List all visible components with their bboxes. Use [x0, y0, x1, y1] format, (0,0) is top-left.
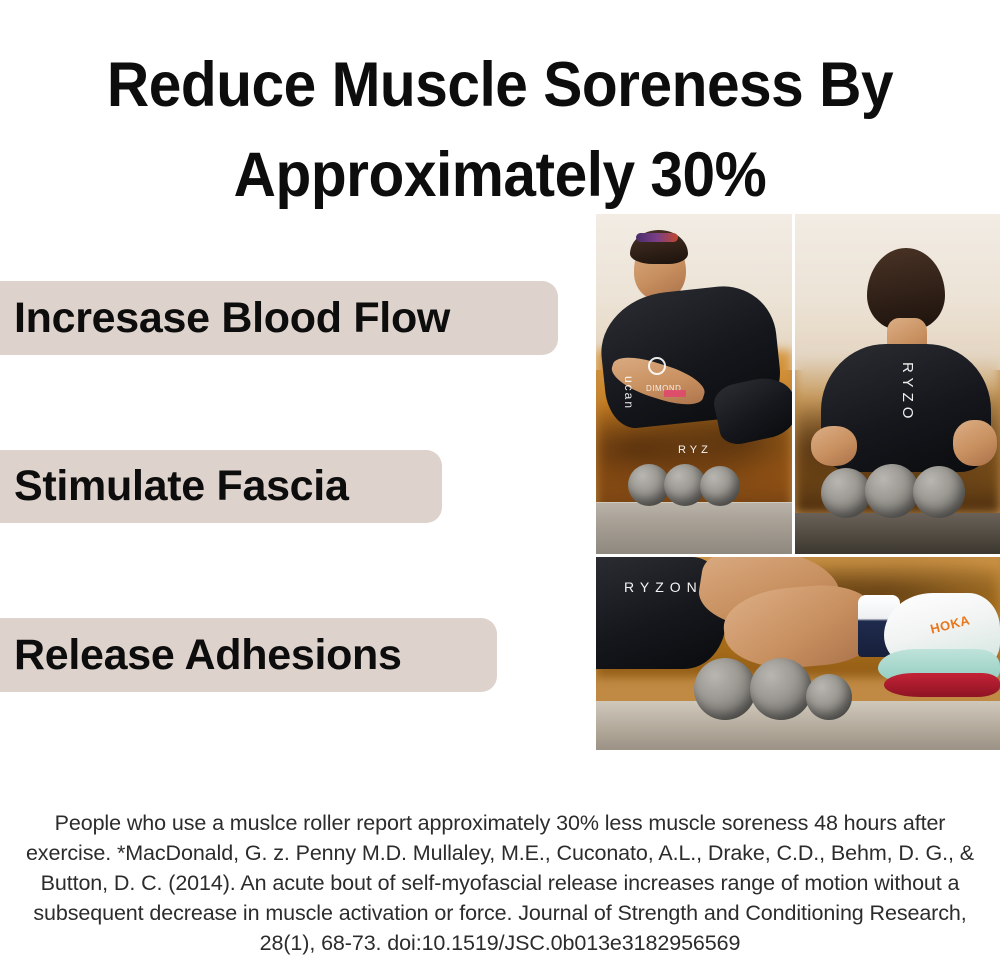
- page-title: Reduce Muscle Soreness By Approximately …: [35, 40, 965, 220]
- sponsor-badge: [664, 390, 686, 397]
- athlete-arm-right: [953, 420, 997, 466]
- massage-roller: [821, 464, 959, 518]
- photo-ground: [596, 503, 792, 554]
- roller-ball: [806, 674, 852, 720]
- feature-label: Stimulate Fascia: [0, 465, 349, 508]
- roller-ball: [750, 658, 812, 720]
- roller-ball: [865, 464, 919, 518]
- photo-ground: [795, 513, 1000, 554]
- photo-collage: ucan RYZ DIMOND RYZO: [596, 214, 1000, 750]
- citation-footnote: People who use a muslce roller report ap…: [22, 808, 978, 958]
- headline-line-1: Reduce Muscle Soreness By: [35, 40, 965, 130]
- roller-ball: [913, 466, 965, 518]
- brand-text-ryzon: RYZO: [899, 362, 916, 423]
- athlete-arm-left: [811, 426, 857, 466]
- feature-pill-blood-flow: Incresase Blood Flow: [0, 281, 558, 355]
- brand-text-ucan: ucan: [622, 376, 636, 410]
- photo-athlete-hip-roll: ucan RYZ DIMOND: [596, 214, 792, 554]
- sunglasses-icon: [636, 233, 678, 242]
- roller-ball: [700, 466, 740, 506]
- shoe-outsole: [884, 673, 1000, 697]
- brand-text-ryzon: RYZ: [678, 444, 712, 456]
- feature-pill-adhesions: Release Adhesions: [0, 618, 497, 692]
- brand-text-ryzon: RYZON: [624, 579, 703, 595]
- feature-label: Incresase Blood Flow: [0, 297, 450, 340]
- massage-roller: [694, 658, 846, 720]
- feature-pill-fascia: Stimulate Fascia: [0, 450, 442, 523]
- sponsor-logo-icon: [648, 357, 666, 375]
- massage-roller: [628, 464, 734, 506]
- feature-label: Release Adhesions: [0, 634, 402, 677]
- photo-athlete-back-roll: RYZO: [795, 214, 1000, 554]
- roller-ball: [694, 658, 756, 720]
- headline-line-2: Approximately 30%: [35, 130, 965, 220]
- photo-calf-roll-with-shoe: RYZON HOKA: [596, 557, 1000, 750]
- roller-ball: [821, 468, 871, 518]
